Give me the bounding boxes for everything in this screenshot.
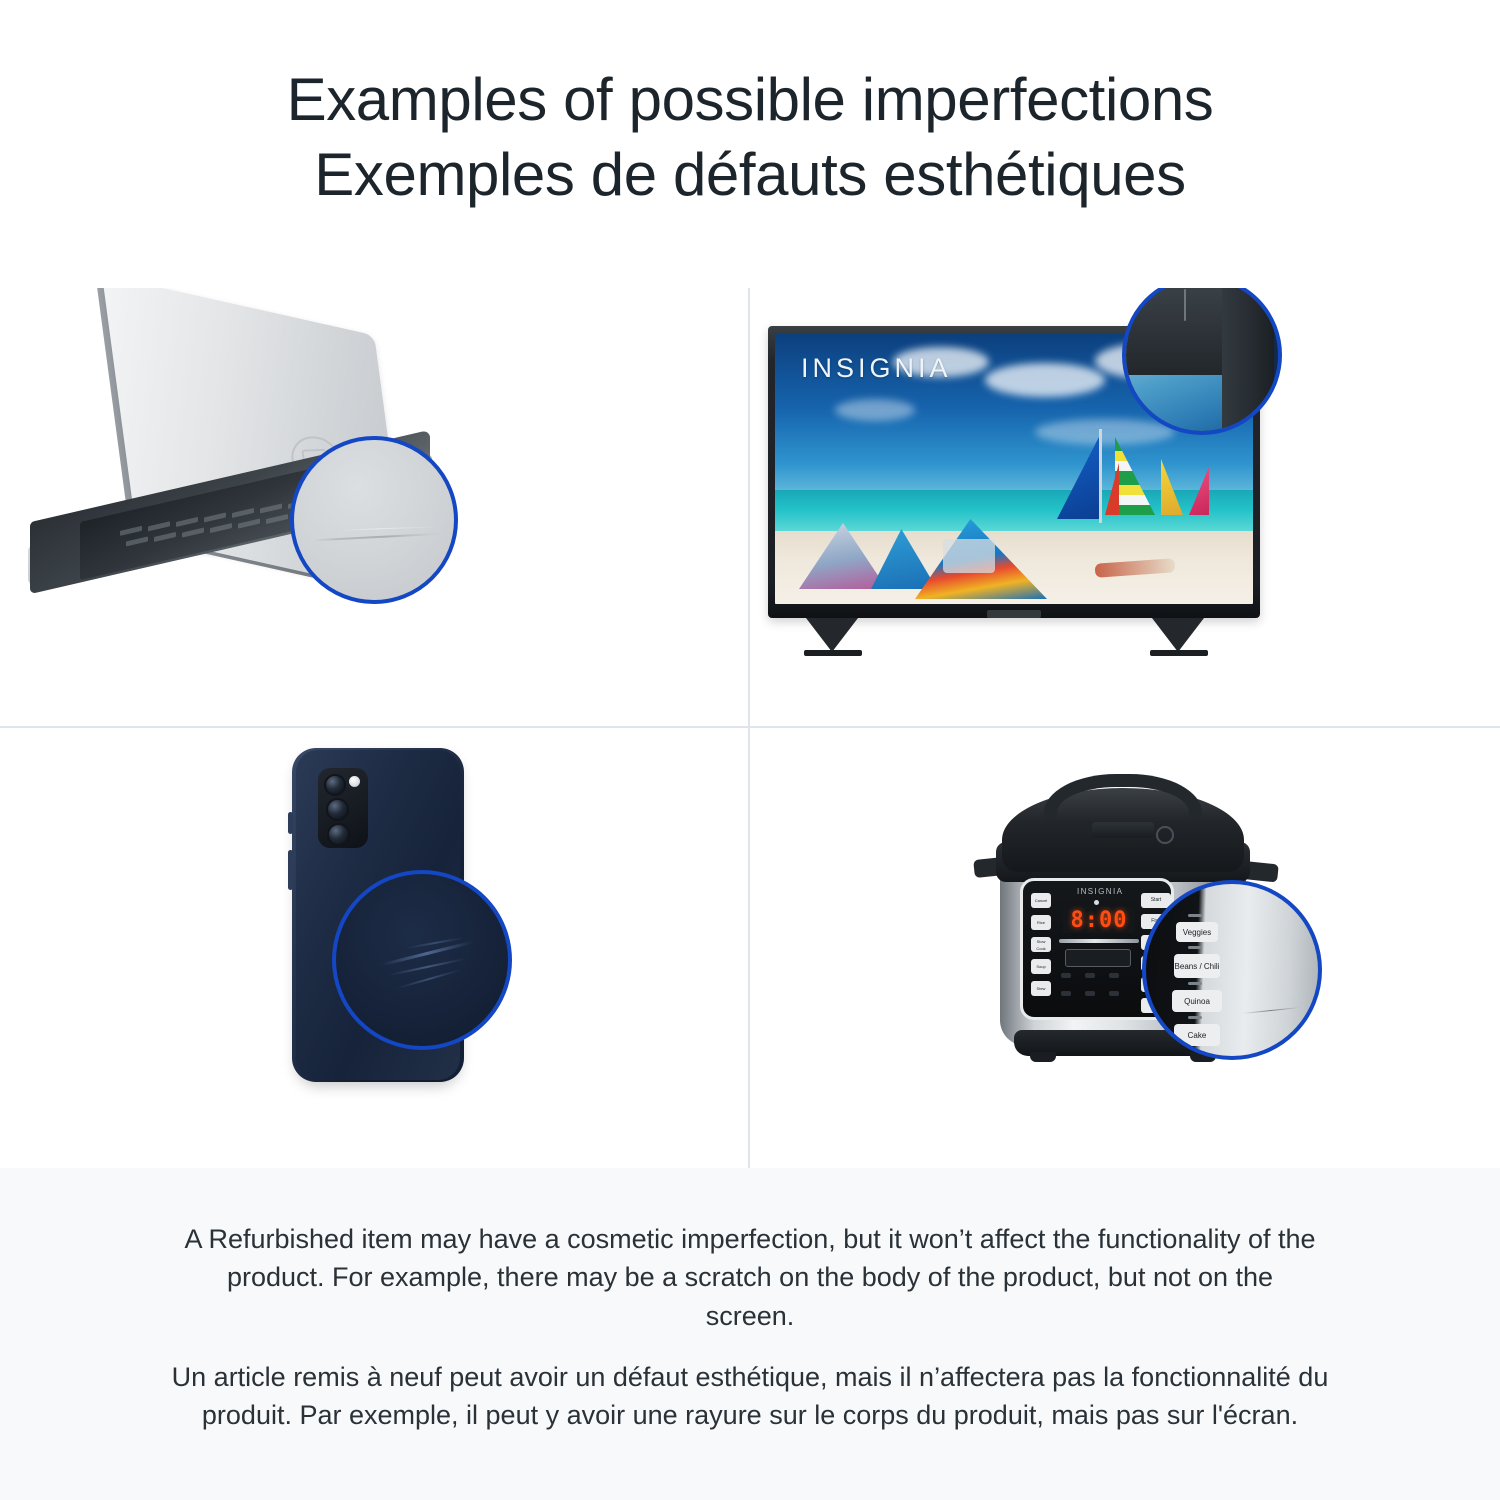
cooker-button-left-5[interactable]: Stew — [1031, 981, 1051, 996]
phone-camera-module — [318, 768, 368, 848]
pressure-cooker-illustration: INSIGNIA 8:00 Cancel Rice Slow Cook — [752, 730, 1500, 1168]
cooker-magnified-button-beans[interactable]: Beans / Chili — [1174, 954, 1220, 978]
tv-illustration: INSIGNIA — [752, 288, 1500, 726]
cooker-panel-key[interactable] — [1109, 991, 1119, 996]
cooker-button-left-2[interactable]: Rice — [1031, 915, 1051, 930]
disclaimer-french: Un article remis à neuf peut avoir un dé… — [160, 1358, 1340, 1435]
tv-bezel-scuff-mark — [1184, 289, 1186, 321]
cooker-magnifier-circle: Veggies Beans / Chili Quinoa Cake — [1142, 880, 1322, 1060]
cooker-magnified-divider — [1188, 946, 1202, 949]
cooker-panel-key[interactable] — [1085, 991, 1095, 996]
laptop-imperfection-cell — [0, 288, 748, 726]
tv-magnifier-circle — [1122, 288, 1282, 435]
cooker-foot-left — [1030, 1052, 1056, 1062]
examples-grid: INSIGNIA — [0, 288, 1500, 1168]
laptop-illustration — [0, 288, 748, 726]
cooker-status-led-icon — [1094, 900, 1099, 905]
disclaimer-english: A Refurbished item may have a cosmetic i… — [180, 1220, 1320, 1335]
phone-side-button-top — [288, 812, 293, 834]
phone-camera-lens-3 — [327, 823, 350, 846]
disclaimer-panel: A Refurbished item may have a cosmetic i… — [0, 1168, 1500, 1500]
tv-magnified-bezel-side — [1222, 288, 1274, 435]
tv-foot-bar-right — [1150, 650, 1208, 656]
phone-magnifier-circle — [332, 870, 512, 1050]
phone-illustration — [0, 730, 748, 1168]
page-title-french: Exemples de défauts esthétiques — [0, 137, 1500, 212]
refurbished-imperfections-infographic: Examples of possible imperfections Exemp… — [0, 0, 1500, 1500]
cooker-button-left-1[interactable]: Cancel — [1031, 893, 1051, 908]
cooker-pressure-bar — [1059, 939, 1139, 943]
laptop-scratch-mark — [314, 533, 442, 542]
cooker-magnified-button-cake[interactable]: Cake — [1174, 1024, 1220, 1046]
cooker-magnified-divider — [1188, 982, 1202, 985]
cooker-lid-vent — [1092, 822, 1154, 838]
page-title: Examples of possible imperfections Exemp… — [0, 62, 1500, 212]
tv-foot-left — [806, 618, 858, 652]
phone-camera-flash-icon — [349, 776, 360, 787]
cooker-magnified-divider — [1188, 1016, 1202, 1019]
cooker-button-left-3[interactable]: Slow Cook — [1031, 937, 1051, 952]
cooker-mode-window — [1065, 949, 1131, 967]
cooker-lid-handle — [1044, 774, 1202, 820]
grid-horizontal-divider — [0, 726, 1500, 728]
tv-magnified-corner — [1126, 288, 1278, 431]
cooker-panel-key[interactable] — [1061, 991, 1071, 996]
laptop-magnifier-circle — [290, 436, 458, 604]
phone-camera-lens-2 — [326, 798, 349, 821]
cooker-pressure-valve-icon — [1156, 826, 1174, 844]
cooker-button-right-start[interactable]: Start — [1141, 893, 1171, 908]
cooker-magnified-button-veggies[interactable]: Veggies — [1176, 922, 1218, 942]
cooker-display: 8:00 — [1063, 907, 1135, 933]
pressure-cooker-imperfection-cell: INSIGNIA 8:00 Cancel Rice Slow Cook — [752, 730, 1500, 1168]
tv-foot-bar-left — [804, 650, 862, 656]
tv-imperfection-cell: INSIGNIA — [752, 288, 1500, 726]
phone-camera-lens-1 — [324, 774, 346, 796]
cooker-magnified-divider — [1188, 914, 1202, 917]
page-title-english: Examples of possible imperfections — [0, 62, 1500, 137]
grid-vertical-divider — [748, 288, 750, 1168]
cooker-display-value: 8:00 — [1071, 908, 1128, 933]
tv-foot-right — [1152, 618, 1204, 652]
cooker-scratch-mark — [1242, 1007, 1300, 1014]
cooker-magnified-button-quinoa[interactable]: Quinoa — [1172, 990, 1222, 1012]
cooker-panel-key[interactable] — [1061, 973, 1071, 978]
laptop-scratch-highlight — [340, 526, 436, 530]
cooker-brand-label: INSIGNIA — [1077, 887, 1123, 896]
cooker-panel-key[interactable] — [1109, 973, 1119, 978]
phone-imperfection-cell — [0, 730, 748, 1168]
cooker-panel-key[interactable] — [1085, 973, 1095, 978]
phone-volume-button — [288, 850, 293, 890]
cooker-button-left-4[interactable]: Soup — [1031, 959, 1051, 974]
